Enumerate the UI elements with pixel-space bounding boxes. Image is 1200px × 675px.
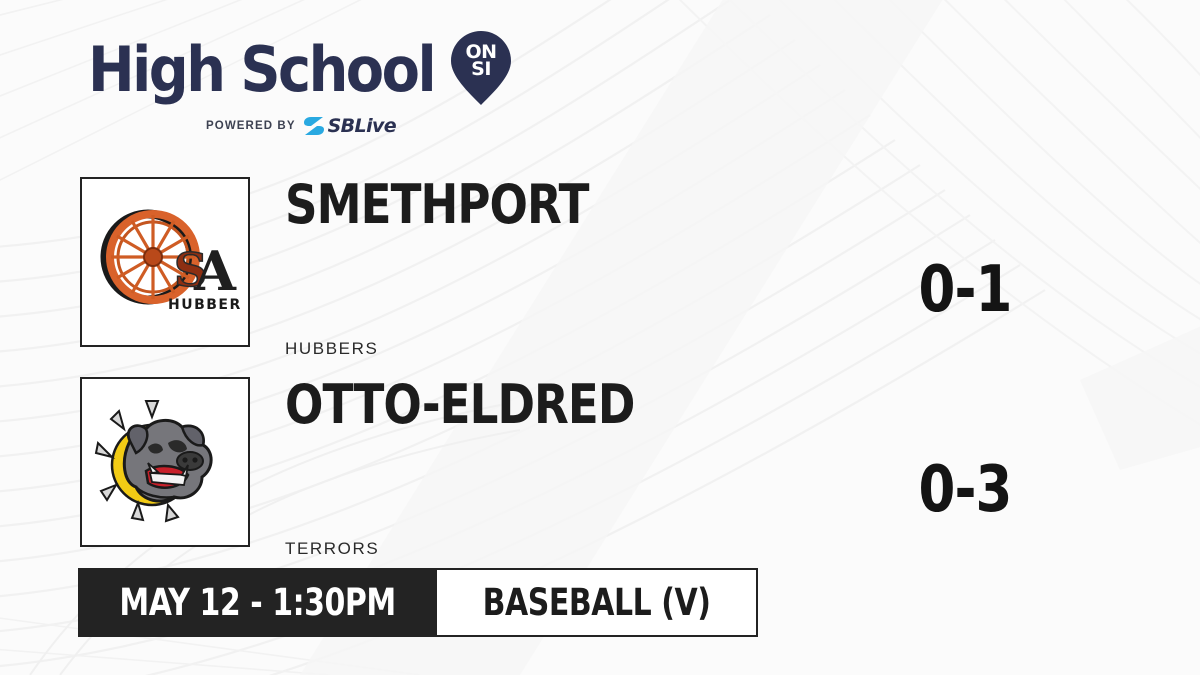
page-title: High School [88,39,434,101]
site-header: High School ON SI POWERED BY SBLive [88,34,512,137]
event-datetime-label: MAY 12 - 1:30PM [119,581,395,624]
team-logo-smethport: S A HUBBERS [80,177,250,347]
team-mascot-hubbers: HUBBERS [285,339,378,359]
team-record-smethport: 0-1 [873,258,1057,322]
badge-line-si: SI [450,61,512,78]
team-record-otto-eldred: 0-3 [873,458,1057,522]
on-si-badge-label: ON SI [450,44,512,78]
team-mascot-terrors: TERRORS [285,539,379,559]
team-name-smethport: SMETHPORT [285,178,589,232]
sblive-wordmark: SBLive [328,115,396,137]
on-si-badge-icon: ON SI [450,30,512,106]
sblive-s-icon [303,116,325,136]
event-sport-label: BASEBALL (V) [483,581,711,624]
powered-by-label: POWERED BY [206,120,296,132]
svg-text:HUBBERS: HUBBERS [168,297,240,313]
sblive-logo: SBLive [303,115,396,137]
powered-by-row: POWERED BY SBLive [206,115,512,137]
event-datetime: MAY 12 - 1:30PM [78,568,437,637]
event-sport: BASEBALL (V) [437,568,758,637]
wagon-wheel-sa-logo-icon: S A HUBBERS [90,187,240,337]
team-logo-otto-eldred [80,377,250,547]
svg-text:A: A [193,239,237,303]
team-name-otto-eldred: OTTO-ELDRED [285,378,634,432]
bulldog-spiked-collar-logo-icon [90,387,240,537]
brand-row: High School ON SI [88,34,512,106]
event-info-bar: MAY 12 - 1:30PM BASEBALL (V) [78,568,758,637]
